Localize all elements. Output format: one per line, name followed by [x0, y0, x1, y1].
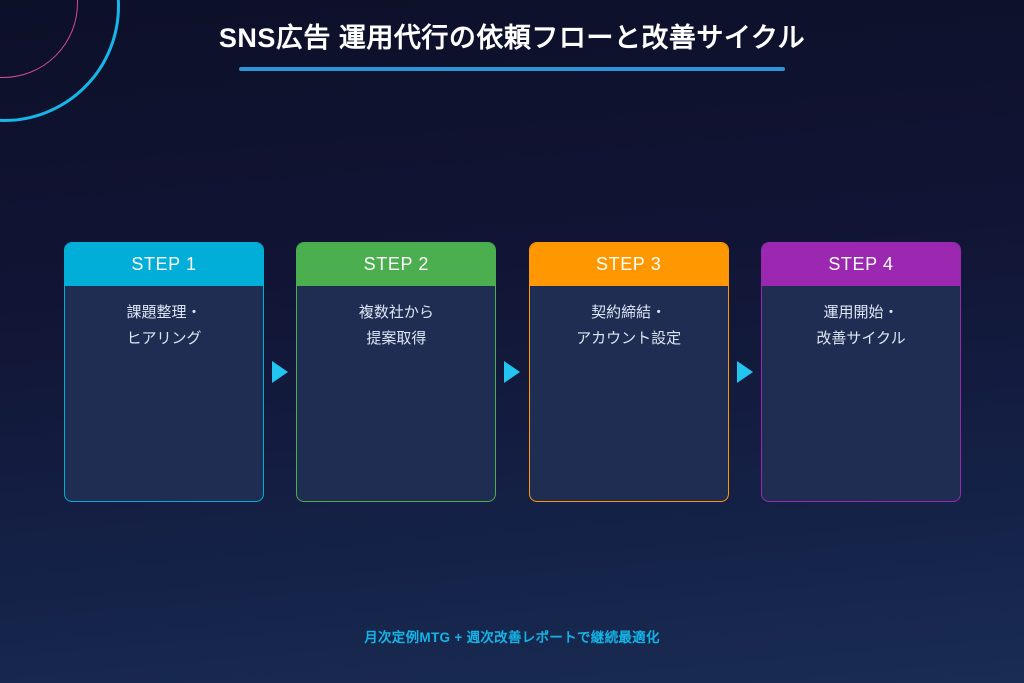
- step-body-1: 課題整理・ ヒアリング: [65, 286, 263, 501]
- step-header-2: STEP 2: [297, 243, 495, 286]
- slide-canvas: SNS広告 運用代行の依頼フローと改善サイクル STEP 1 課題整理・ ヒアリ…: [0, 0, 1024, 683]
- step-body-line-2: ヒアリング: [75, 326, 253, 352]
- step-body-line-1: 課題整理・: [75, 300, 253, 326]
- steps-row: STEP 1 課題整理・ ヒアリング STEP 2 複数社から 提案取得 STE…: [64, 242, 961, 502]
- step-body-line-2: 改善サイクル: [772, 326, 950, 352]
- step-card-4[interactable]: STEP 4 運用開始・ 改善サイクル: [761, 242, 961, 502]
- step-card-1[interactable]: STEP 1 課題整理・ ヒアリング: [64, 242, 264, 502]
- step-body-2: 複数社から 提案取得: [297, 286, 495, 501]
- step-body-4: 運用開始・ 改善サイクル: [762, 286, 960, 501]
- step-body-line-2: アカウント設定: [540, 326, 718, 352]
- step-body-line-2: 提案取得: [307, 326, 485, 352]
- step-body-line-1: 契約締結・: [540, 300, 718, 326]
- arrow-right-icon: [737, 361, 753, 383]
- step-body-line-1: 運用開始・: [772, 300, 950, 326]
- step-header-1: STEP 1: [65, 243, 263, 286]
- arrow-right-icon: [504, 361, 520, 383]
- step-body-3: 契約締結・ アカウント設定: [530, 286, 728, 501]
- step-connector-2: [496, 242, 528, 502]
- step-card-2[interactable]: STEP 2 複数社から 提案取得: [296, 242, 496, 502]
- title-block: SNS広告 運用代行の依頼フローと改善サイクル: [0, 22, 1024, 71]
- title-underline: [239, 67, 785, 71]
- page-title: SNS広告 運用代行の依頼フローと改善サイクル: [0, 22, 1024, 56]
- step-connector-3: [729, 242, 761, 502]
- step-header-4: STEP 4: [762, 243, 960, 286]
- step-connector-1: [264, 242, 296, 502]
- step-body-line-1: 複数社から: [307, 300, 485, 326]
- step-card-3[interactable]: STEP 3 契約締結・ アカウント設定: [529, 242, 729, 502]
- step-header-3: STEP 3: [530, 243, 728, 286]
- footer-note: 月次定例MTG + 週次改善レポートで継続最適化: [0, 626, 1024, 646]
- arrow-right-icon: [272, 361, 288, 383]
